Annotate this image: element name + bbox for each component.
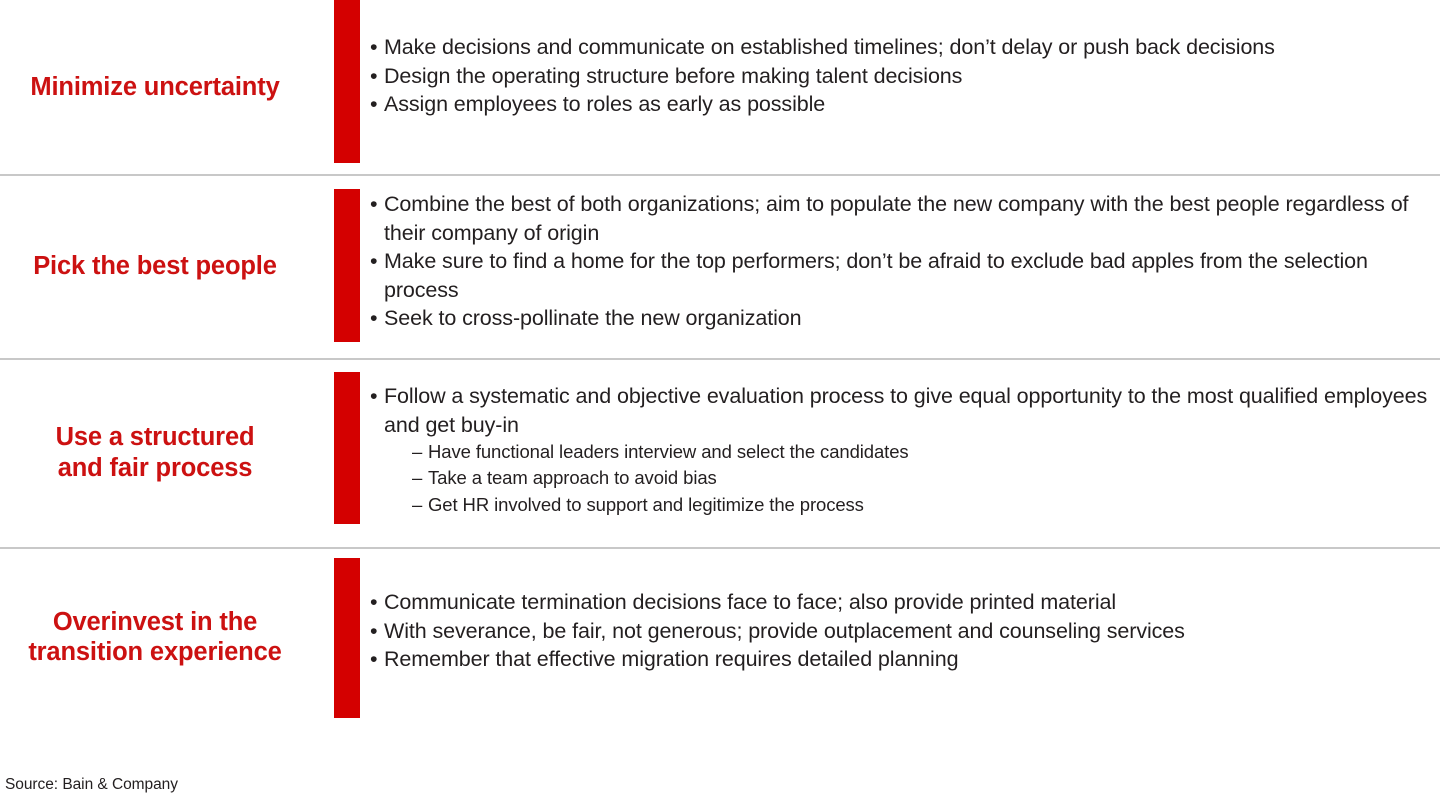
section-label: Minimize uncertainty [30, 72, 279, 102]
section-body: •Combine the best of both organizations;… [370, 174, 1440, 358]
section-label-cell: Pick the best people [0, 174, 310, 358]
bullet-text: Make decisions and communicate on establ… [384, 33, 1437, 62]
bullet-item: •Make decisions and communicate on estab… [370, 33, 1437, 62]
sub-bullet-marker-icon: – [412, 439, 428, 465]
bullet-item: •Follow a systematic and objective evalu… [370, 382, 1437, 439]
accent-bar [334, 0, 360, 163]
bullet-item: •Communicate termination decisions face … [370, 588, 1437, 617]
bullet-marker-icon: • [370, 382, 384, 439]
section-body: •Make decisions and communicate on estab… [370, 0, 1440, 174]
section-label-cell: Overinvest in thetransition experience [0, 547, 310, 727]
bullet-item: •Assign employees to roles as early as p… [370, 90, 1437, 119]
bullet-text: Assign employees to roles as early as po… [384, 90, 1437, 119]
bullet-text: Combine the best of both organizations; … [384, 190, 1437, 247]
section-row: Use a structuredand fair process •Follow… [0, 358, 1440, 547]
bullet-text: Remember that effective migration requir… [384, 645, 1437, 674]
bullet-text: Make sure to find a home for the top per… [384, 247, 1437, 304]
sub-bullet-item: –Have functional leaders interview and s… [412, 439, 1437, 465]
bullet-marker-icon: • [370, 90, 384, 119]
bullet-item: •Seek to cross-pollinate the new organiz… [370, 304, 1437, 333]
section-body: •Follow a systematic and objective evalu… [370, 358, 1440, 547]
bullet-text: With severance, be fair, not generous; p… [384, 617, 1437, 646]
section-label-cell: Minimize uncertainty [0, 0, 310, 174]
sub-bullet-item: –Take a team approach to avoid bias [412, 465, 1437, 491]
section-label: Use a structuredand fair process [56, 422, 255, 482]
section-row: Minimize uncertainty •Make decisions and… [0, 0, 1440, 174]
section-list: Minimize uncertainty •Make decisions and… [0, 0, 1440, 727]
section-label-cell: Use a structuredand fair process [0, 358, 310, 547]
sub-bullet-text: Take a team approach to avoid bias [428, 465, 1437, 491]
section-accent-bar-cell [310, 174, 370, 358]
section-label: Overinvest in thetransition experience [28, 607, 281, 667]
bullet-marker-icon: • [370, 617, 384, 646]
bullet-marker-icon: • [370, 190, 384, 247]
section-divider [0, 547, 1440, 549]
section-row: Overinvest in thetransition experience •… [0, 547, 1440, 727]
accent-bar [334, 189, 360, 342]
sub-bullet-text: Have functional leaders interview and se… [428, 439, 1437, 465]
source-note: Source: Bain & Company [5, 776, 178, 794]
sub-bullet-text: Get HR involved to support and legitimiz… [428, 492, 1437, 518]
bullet-item: •Design the operating structure before m… [370, 62, 1437, 91]
bullet-item: •Make sure to find a home for the top pe… [370, 247, 1437, 304]
bullet-item: •With severance, be fair, not generous; … [370, 617, 1437, 646]
bullet-text: Design the operating structure before ma… [384, 62, 1437, 91]
section-divider [0, 174, 1440, 176]
accent-bar [334, 558, 360, 718]
sub-bullet-marker-icon: – [412, 492, 428, 518]
bullet-item: •Combine the best of both organizations;… [370, 190, 1437, 247]
bullet-text: Communicate termination decisions face t… [384, 588, 1437, 617]
accent-bar [334, 372, 360, 524]
bullet-marker-icon: • [370, 247, 384, 304]
bullet-item: •Remember that effective migration requi… [370, 645, 1437, 674]
sub-bullet-marker-icon: – [412, 465, 428, 491]
section-accent-bar-cell [310, 358, 370, 547]
section-label: Pick the best people [33, 251, 277, 281]
bullet-marker-icon: • [370, 33, 384, 62]
bullet-marker-icon: • [370, 645, 384, 674]
bullet-marker-icon: • [370, 62, 384, 91]
bullet-marker-icon: • [370, 304, 384, 333]
section-body: •Communicate termination decisions face … [370, 547, 1440, 727]
bullet-text: Follow a systematic and objective evalua… [384, 382, 1437, 439]
section-row: Pick the best people •Combine the best o… [0, 174, 1440, 358]
bullet-text: Seek to cross-pollinate the new organiza… [384, 304, 1437, 333]
section-accent-bar-cell [310, 547, 370, 727]
section-accent-bar-cell [310, 0, 370, 174]
section-divider [0, 358, 1440, 360]
bullet-marker-icon: • [370, 588, 384, 617]
slide-canvas: Minimize uncertainty •Make decisions and… [0, 0, 1440, 810]
sub-bullet-item: –Get HR involved to support and legitimi… [412, 492, 1437, 518]
